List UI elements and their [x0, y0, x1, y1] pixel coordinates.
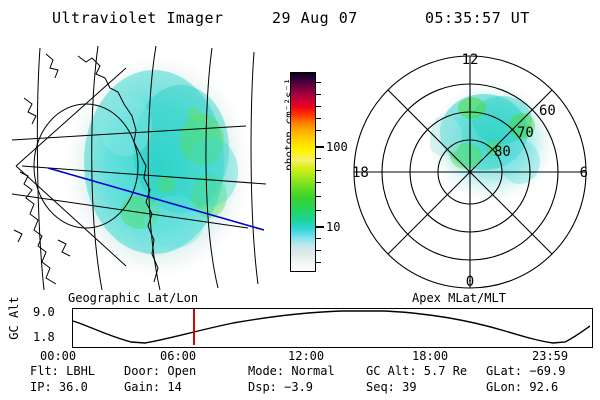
- mlat-label-60: 60: [539, 103, 556, 119]
- header-bar: Ultraviolet Imager 29 Aug 07 05:35:57 UT: [0, 6, 600, 32]
- status-door: Door: Open: [124, 364, 196, 378]
- page-title: Ultraviolet Imager: [52, 9, 224, 27]
- current-time-marker: [193, 309, 195, 345]
- colorbar-label-10: 10: [326, 220, 340, 234]
- colorbar-tick: [315, 182, 321, 183]
- colorbar-tick: [315, 94, 321, 95]
- mlt-label-6: 6: [580, 165, 588, 181]
- mlat-label-80: 80: [494, 144, 511, 160]
- mlt-label-18: 18: [352, 165, 369, 181]
- polar-dial-panel[interactable]: 12 6 0 18 60 70 80: [344, 44, 596, 292]
- colorbar-tick: [315, 82, 321, 83]
- status-footer: Flt: LBHL Door: Open Mode: Normal GC Alt…: [0, 364, 600, 398]
- orbit-altitude-strip[interactable]: GC Alt 9.0 1.8 00:00 06:00 12:00 18:00 2…: [0, 303, 600, 355]
- mlat-label-70: 70: [517, 125, 534, 141]
- orbit-x-axis: 00:00 06:00 12:00 18:00 23:59: [0, 349, 600, 365]
- orbit-x-tick-2359: 23:59: [532, 349, 568, 363]
- orbit-altitude-curve: [73, 309, 590, 345]
- status-seq: Seq: 39: [366, 380, 417, 394]
- mlt-label-0: 0: [466, 274, 474, 290]
- status-gain: Gain: 14: [124, 380, 182, 394]
- geographic-projection: [6, 44, 268, 292]
- orbit-x-tick-1200: 12:00: [288, 349, 324, 363]
- colorbar-tick: [315, 130, 321, 131]
- status-glon: GLon: 92.6: [486, 380, 558, 394]
- colorbar-tick: [315, 210, 321, 211]
- colorbar-tick: [315, 106, 321, 107]
- orbit-y-tick-high: 9.0: [33, 305, 55, 319]
- colorbar-tick-major-100: [315, 146, 324, 148]
- colorbar-tick: [315, 118, 321, 119]
- mlt-label-12: 12: [462, 52, 479, 68]
- status-gc-alt: GC Alt: 5.7 Re: [366, 364, 467, 378]
- orbit-y-axis-label: GC Alt: [7, 292, 21, 344]
- orbit-x-tick-1800: 18:00: [412, 349, 448, 363]
- observation-time: 05:35:57 UT: [425, 9, 530, 27]
- colorbar-group: photon cm⁻²s⁻¹ 100 10: [272, 60, 338, 290]
- aurora-oval-region: [426, 84, 554, 200]
- colorbar-tick: [315, 250, 321, 251]
- colorbar-tick: [315, 196, 321, 197]
- status-glat: GLat: −69.9: [486, 364, 565, 378]
- status-mode: Mode: Normal: [248, 364, 335, 378]
- orbit-plot-area[interactable]: [72, 308, 593, 348]
- orbit-y-tick-low: 1.8: [33, 330, 55, 344]
- colorbar-tick-major-10: [315, 226, 324, 228]
- colorbar-gradient[interactable]: [290, 72, 316, 272]
- polar-projection: 12 6 0 18 60 70 80: [344, 44, 596, 292]
- status-dsp: Dsp: −3.9: [248, 380, 313, 394]
- mlt-spokes: [354, 56, 586, 288]
- orbit-x-tick-0000: 00:00: [40, 349, 76, 363]
- colorbar-tick: [315, 170, 321, 171]
- status-flt: Flt: LBHL: [30, 364, 95, 378]
- colorbar-tick: [315, 262, 321, 263]
- orbit-x-tick-0600: 06:00: [160, 349, 196, 363]
- status-ip: IP: 36.0: [30, 380, 88, 394]
- colorbar-tick: [315, 158, 321, 159]
- geographic-image-panel[interactable]: [6, 44, 268, 292]
- colorbar-tick: [315, 238, 321, 239]
- observation-date: 29 Aug 07: [272, 9, 358, 27]
